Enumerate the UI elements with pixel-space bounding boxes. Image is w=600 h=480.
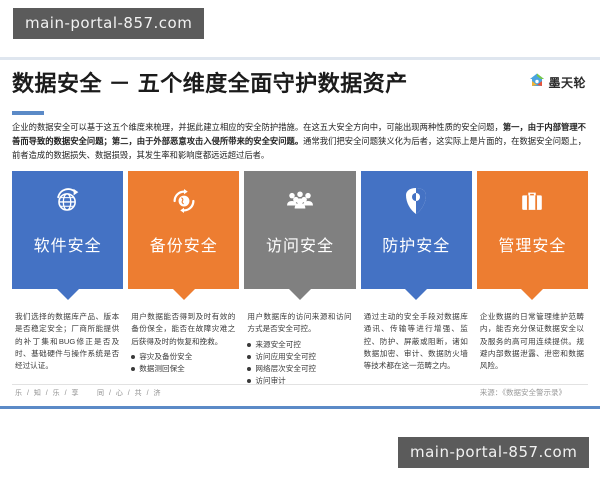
intro-text-part1: 企业的数据安全可以基于这五个维度来梳理，并据此建立相应的安全防护措施。在这五大安… [12,122,503,132]
list-item: 容灾及备份安全 [131,351,235,363]
column-4-cap: 防护安全 [361,171,472,289]
column-1-body: 我们选择的数据库产品、版本是否稳定安全；厂商所能提供的补丁集和BUG修正是否及时… [12,311,123,372]
list-item: 数据测回保全 [131,363,235,375]
list-item: 访问应用安全可控 [247,351,351,363]
bottom-watermark-badge: main-portal-857.com [398,437,589,468]
footer-divider [12,384,588,385]
column-4-label: 防护安全 [382,232,450,256]
title-accent-rule [12,111,44,115]
list-item: 访问审计 [247,375,351,387]
backup-refresh-icon [169,184,199,218]
column-1-arrow [57,289,79,300]
users-group-icon [284,184,316,218]
column-5-cap: 管理安全 [477,171,588,289]
column-2-arrow [173,289,195,300]
footer-source: 来源：《数据安全警示录》 [480,387,566,398]
shield-icon [403,184,429,218]
brand-name: 墨天轮 [548,74,586,91]
dimension-column-2[interactable]: 备份安全 用户数据能否得到及时有效的备份保全，能否在故障灾难之后获得及时的恢复和… [128,171,239,388]
dimension-column-4[interactable]: 防护安全 通过主动的安全手段对数据库通讯、传输等进行增强、监控、防护、屏蔽或阻断… [361,171,472,388]
column-5-arrow [521,289,543,300]
brand-logo: 墨天轮 [529,72,586,93]
column-4-body: 通过主动的安全手段对数据库通讯、传输等进行增强、监控、防护、屏蔽或阻断，诸如数据… [361,311,472,372]
briefcase-icon [518,184,546,218]
column-5-body: 企业数据的日常管理维护范畴内，能否充分保证数据安全以及服务的高可用连续提供。规避… [477,311,588,372]
column-2-cap: 备份安全 [128,171,239,289]
page-title: 数据安全 － 五个维度全面守护数据资产 [12,66,408,98]
column-3-label: 访问安全 [266,232,334,256]
column-2-bullets: 容灾及备份安全 数据测回保全 [128,351,239,376]
dimension-columns: 软件安全 我们选择的数据库产品、版本是否稳定安全；厂商所能提供的补丁集和BUG修… [12,171,588,388]
column-3-arrow [289,289,311,300]
column-3-bullets: 来源安全可控 访问应用安全可控 网络层次安全可控 访问审计 [244,339,355,388]
column-3-body: 用户数据库的访问来源和访问方式是否安全可控。 [244,311,355,336]
slide-content: 数据安全 － 五个维度全面守护数据资产 墨天轮 企业的数据安全可以基于这五个维度… [12,66,588,400]
slide-bottom-accent [0,406,600,409]
column-2-body: 用户数据能否得到及时有效的备份保全，能否在故障灾难之后获得及时的恢复和挽救。 [128,311,239,348]
column-2-label: 备份安全 [150,232,218,256]
intro-paragraph: 企业的数据安全可以基于这五个维度来梳理，并据此建立相应的安全防护措施。在这五大安… [12,120,586,163]
slide-card: 数据安全 － 五个维度全面守护数据资产 墨天轮 企业的数据安全可以基于这五个维度… [0,57,600,409]
list-item: 来源安全可控 [247,339,351,351]
column-3-cap: 访问安全 [244,171,355,289]
list-item: 网络层次安全可控 [247,363,351,375]
column-5-label: 管理安全 [498,232,566,256]
footer-tagline: 乐 / 知 / 乐 / 享 同 / 心 / 共 / 济 [15,388,162,398]
dimension-column-1[interactable]: 软件安全 我们选择的数据库产品、版本是否稳定安全；厂商所能提供的补丁集和BUG修… [12,171,123,388]
dimension-column-3[interactable]: 访问安全 用户数据库的访问来源和访问方式是否安全可控。 来源安全可控 访问应用安… [244,171,355,388]
column-1-label: 软件安全 [34,232,102,256]
globe-plane-icon [53,184,83,218]
slide-header: 数据安全 － 五个维度全面守护数据资产 墨天轮 [12,66,588,112]
top-watermark-badge: main-portal-857.com [13,8,204,39]
dimension-column-5[interactable]: 管理安全 企业数据的日常管理维护范畴内，能否充分保证数据安全以及服务的高可用连续… [477,171,588,388]
column-4-arrow [405,289,427,300]
column-1-cap: 软件安全 [12,171,123,289]
house-logo-icon [529,72,545,93]
